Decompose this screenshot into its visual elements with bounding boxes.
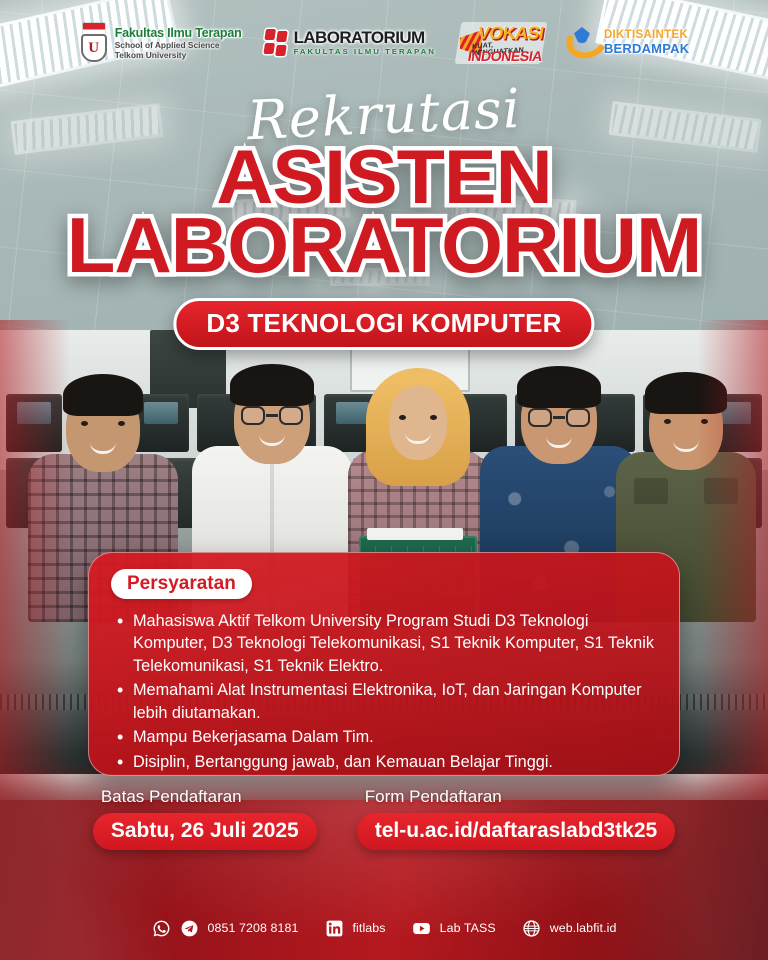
- list-item: Disiplin, Bertanggung jawab, dan Kemauan…: [115, 751, 657, 773]
- deadline-label: Batas Pendaftaran: [93, 786, 317, 808]
- list-item: Memahami Alat Instrumentasi Elektronika,…: [115, 679, 657, 724]
- page-title-line2: LABORATORIUM: [0, 200, 768, 291]
- vokasi-line3: INDONESIA: [467, 49, 543, 63]
- social-footer-bar: 0851 7208 8181 fitlabs Lab TASS web.labf…: [0, 908, 768, 948]
- fit-logo-line1: Fakultas Ilmu Terapan: [115, 26, 242, 40]
- recruitment-poster: U Fakultas Ilmu Terapan School of Applie…: [0, 0, 768, 960]
- program-pill: D3 TEKNOLOGI KOMPUTER: [173, 298, 594, 350]
- fit-logo-line3: Telkom University: [115, 50, 242, 61]
- shield-letter: U: [88, 41, 99, 56]
- whatsapp-icon[interactable]: [152, 919, 171, 938]
- youtube-icon[interactable]: [412, 919, 431, 938]
- deadline-block: Batas Pendaftaran Sabtu, 26 Juli 2025: [93, 786, 317, 850]
- logo-bar: U Fakultas Ilmu Terapan School of Applie…: [0, 20, 768, 66]
- lab-diamond-icon: [262, 29, 290, 57]
- eyeglasses-icon: [241, 406, 303, 426]
- requirements-panel: Persyaratan Mahasiswa Aktif Telkom Unive…: [88, 552, 680, 776]
- lab-logo-line1: LABORATORIUM: [294, 29, 436, 46]
- diktisaintek-figure-icon: [566, 26, 598, 60]
- phone-number: 0851 7208 8181: [208, 922, 299, 934]
- globe-icon[interactable]: [522, 919, 541, 938]
- diktisaintek-logo: DIKTISAINTEK BERDAMPAK: [566, 26, 689, 60]
- youtube-channel: Lab TASS: [440, 922, 496, 934]
- registration-section: Batas Pendaftaran Sabtu, 26 Juli 2025 Fo…: [0, 786, 768, 850]
- form-url-pill[interactable]: tel-u.ac.id/daftaraslabd3tk25: [357, 813, 675, 850]
- fit-logo-line2: School of Applied Science: [115, 40, 242, 51]
- deadline-value-pill: Sabtu, 26 Juli 2025: [93, 813, 317, 850]
- form-block: Form Pendaftaran tel-u.ac.id/daftaraslab…: [357, 786, 675, 850]
- website-url: web.labfit.id: [550, 922, 617, 934]
- linkedin-handle: fitlabs: [353, 922, 386, 934]
- list-item: Mampu Bekerjasama Dalam Tim.: [115, 726, 657, 748]
- fakultas-ilmu-terapan-logo: U Fakultas Ilmu Terapan School of Applie…: [79, 23, 242, 63]
- requirements-badge: Persyaratan: [111, 569, 252, 599]
- vokasi-logo: VOKASI KUAT, MENGUATKAN INDONESIA: [458, 22, 544, 64]
- telegram-icon[interactable]: [180, 919, 199, 938]
- linkedin-icon[interactable]: [325, 919, 344, 938]
- diktisaintek-line2: BERDAMPAK: [604, 42, 689, 57]
- form-label: Form Pendaftaran: [357, 786, 675, 808]
- telkom-shield-icon: U: [79, 23, 109, 63]
- list-item: Mahasiswa Aktif Telkom University Progra…: [115, 610, 657, 677]
- lab-logo-line2: FAKULTAS ILMU TERAPAN: [294, 46, 436, 57]
- laboratorium-logo: LABORATORIUM FAKULTAS ILMU TERAPAN: [264, 29, 436, 57]
- requirements-list: Mahasiswa Aktif Telkom University Progra…: [115, 610, 657, 773]
- eyeglasses-icon: [528, 408, 590, 428]
